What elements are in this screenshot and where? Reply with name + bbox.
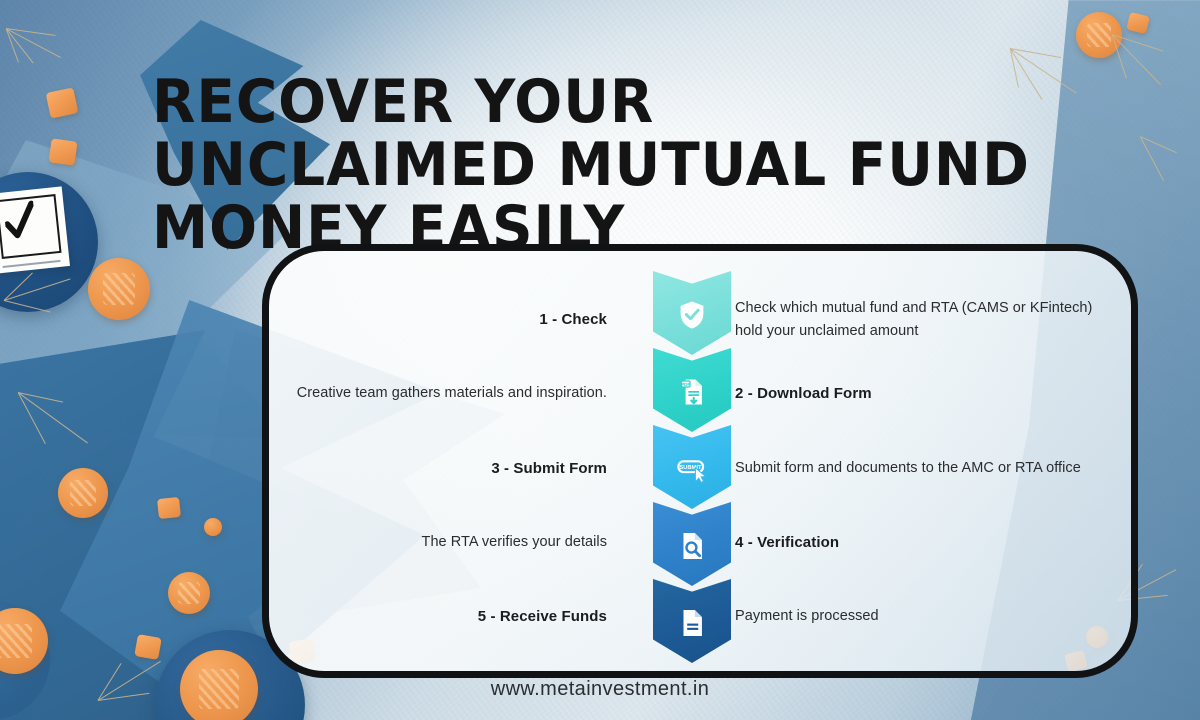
chevron-stack: PDF SUBMIT: [653, 271, 731, 665]
pdf-download-icon: PDF: [675, 375, 709, 409]
card-underline: [3, 260, 61, 268]
check-icon: [3, 199, 38, 248]
step-description-5: Payment is processed: [735, 608, 879, 624]
infographic-canvas: RECOVER YOUR UNCLAIMED MUTUAL FUND MONEY…: [0, 0, 1200, 720]
row-right-cell: Submit form and documents to the AMC or …: [717, 457, 1131, 480]
chevron-step-5[interactable]: [653, 579, 731, 663]
row-left-cell: 3 - Submit Form: [269, 460, 629, 478]
row-right-cell: Payment is processed: [717, 605, 1131, 628]
decor-cube: [48, 138, 77, 165]
row-right-cell: Check which mutual fund and RTA (CAMS or…: [717, 297, 1131, 344]
process-rows: 1 - Check Check which mutual fund and RT…: [269, 251, 1131, 671]
chevron-step-1[interactable]: [653, 271, 731, 355]
page-title: RECOVER YOUR UNCLAIMED MUTUAL FUND MONEY…: [152, 73, 952, 257]
decor-checkbox-card: [0, 186, 70, 273]
step-label-1: 1 - Check: [539, 311, 607, 328]
step-label-2: 2 - Download Form: [735, 385, 872, 402]
decor-coin: [88, 258, 150, 320]
decor-cube: [157, 497, 181, 519]
document-search-icon: [675, 529, 709, 563]
title-line-1: RECOVER YOUR: [152, 73, 904, 132]
step-description-1: Check which mutual fund and RTA (CAMS or…: [735, 300, 1092, 339]
row-right-cell: 2 - Download Form: [717, 385, 1131, 403]
chevron-step-3[interactable]: SUBMIT: [653, 425, 731, 509]
process-card: 1 - Check Check which mutual fund and RT…: [262, 244, 1138, 678]
row-left-cell: 1 - Check: [269, 311, 629, 329]
submit-cursor-icon: SUBMIT: [675, 452, 709, 486]
row-right-cell: 4 - Verification: [717, 534, 1131, 552]
decor-coin: [204, 518, 222, 536]
row-left-cell: Creative team gathers materials and insp…: [269, 382, 629, 405]
decor-coin: [168, 572, 210, 614]
row-left-cell: 5 - Receive Funds: [269, 608, 629, 626]
step-description-2: Creative team gathers materials and insp…: [297, 385, 607, 401]
decor-cube: [134, 634, 161, 660]
step-description-3: Submit form and documents to the AMC or …: [735, 460, 1081, 476]
chevron-step-4[interactable]: [653, 502, 731, 586]
chevron-step-2[interactable]: PDF: [653, 348, 731, 432]
step-description-4: The RTA verifies your details: [422, 534, 607, 550]
step-label-5: 5 - Receive Funds: [478, 608, 607, 625]
step-label-4: 4 - Verification: [735, 534, 839, 551]
row-left-cell: The RTA verifies your details: [269, 531, 629, 554]
step-label-3: 3 - Submit Form: [491, 460, 607, 477]
footer-url[interactable]: www.metainvestment.in: [0, 678, 1200, 701]
document-lines-icon: [675, 606, 709, 640]
title-line-2: UNCLAIMED MUTUAL FUND: [152, 136, 904, 195]
svg-text:PDF: PDF: [681, 382, 690, 387]
shield-check-icon: [675, 298, 709, 332]
